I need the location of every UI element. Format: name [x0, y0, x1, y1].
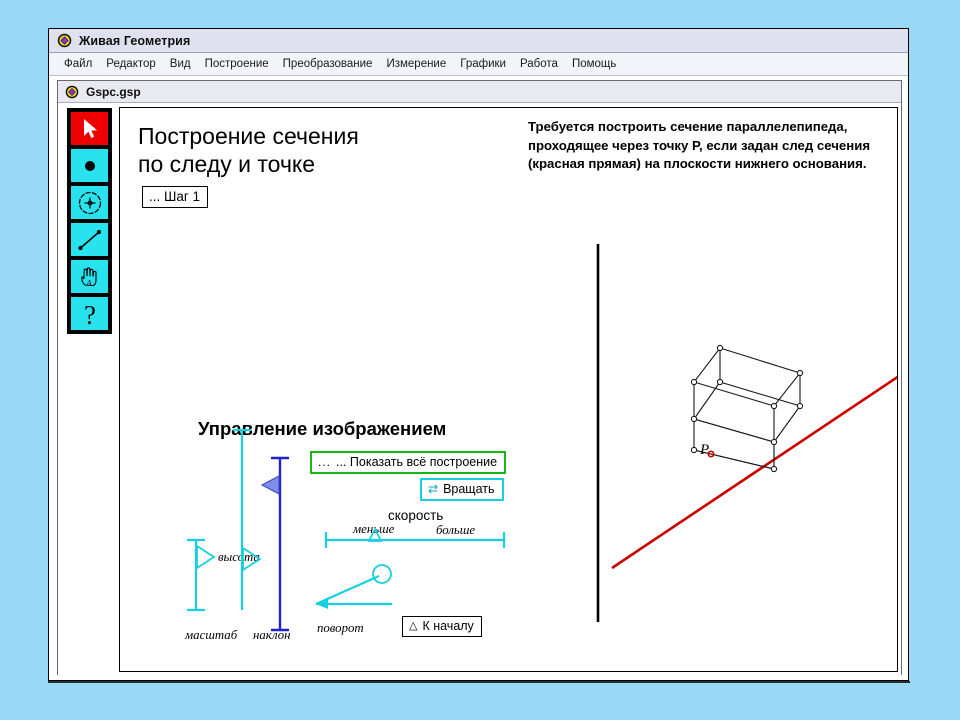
app-diamond-icon	[57, 33, 72, 48]
menu-item-construct[interactable]: Построение	[198, 56, 276, 72]
window-title: Живая Геометрия	[79, 34, 190, 48]
sketch-vector-layer	[120, 108, 898, 672]
circle-icon	[76, 189, 104, 217]
rotation-dial-widget[interactable]	[316, 565, 392, 609]
document-body: A ? Построение сечения по следу и точке …	[58, 103, 901, 675]
text-label-tool[interactable]: A	[70, 259, 109, 294]
application-window: Живая Геометрия Файл Редактор Вид Постро…	[48, 28, 909, 681]
scale-slider-widget[interactable]	[187, 540, 214, 610]
menu-bar[interactable]: Файл Редактор Вид Построение Преобразова…	[49, 53, 908, 76]
menu-item-view[interactable]: Вид	[163, 56, 198, 72]
tool-palette: A ?	[67, 108, 112, 334]
help-tool[interactable]: ?	[70, 296, 109, 331]
menu-item-transform[interactable]: Преобразование	[276, 56, 380, 72]
trace-line[interactable]	[612, 366, 898, 568]
speed-slider-widget[interactable]	[326, 529, 504, 548]
point-icon	[79, 155, 101, 177]
document-window: Gspc.gsp	[57, 80, 902, 675]
document-diamond-icon	[65, 85, 79, 99]
menu-item-file[interactable]: Файл	[57, 56, 99, 72]
document-title-bar: Gspc.gsp	[58, 81, 901, 103]
menu-item-help[interactable]: Помощь	[565, 56, 623, 72]
question-mark-icon: ?	[79, 300, 101, 328]
compass-circle-tool[interactable]	[70, 185, 109, 220]
line-icon	[76, 227, 104, 253]
arrow-select-tool[interactable]	[70, 111, 109, 146]
svg-text:A: A	[85, 277, 92, 287]
tilt-slider-widget[interactable]	[233, 430, 260, 610]
window-drop-shadow	[48, 681, 910, 683]
hand-label-icon: A	[77, 264, 103, 290]
arrow-icon	[80, 117, 100, 141]
svg-text:?: ?	[84, 300, 96, 328]
menu-item-measure[interactable]: Измерение	[379, 56, 453, 72]
menu-item-edit[interactable]: Редактор	[99, 56, 163, 72]
document-title: Gspc.gsp	[86, 85, 141, 99]
window-title-bar: Живая Геометрия	[49, 29, 908, 53]
straightedge-line-tool[interactable]	[70, 222, 109, 257]
point-tool[interactable]	[70, 148, 109, 183]
sketch-canvas[interactable]: Построение сечения по следу и точке ... …	[119, 107, 898, 672]
height-slider-widget[interactable]	[262, 458, 289, 630]
desktop-background: Живая Геометрия Файл Редактор Вид Постро…	[0, 0, 960, 720]
menu-item-work[interactable]: Работа	[513, 56, 565, 72]
menu-item-graphs[interactable]: Графики	[453, 56, 513, 72]
